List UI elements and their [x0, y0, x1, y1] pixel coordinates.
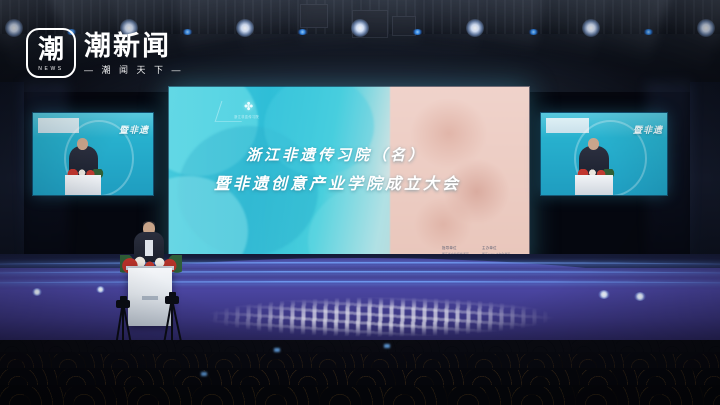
tripod-leg [123, 308, 131, 344]
phone-screen-glow [274, 348, 280, 352]
stage-light-blue [297, 29, 308, 35]
side-led-screen-left: 暨非遗 [32, 112, 154, 196]
stage-light-white [236, 19, 254, 37]
stage-light-white [351, 19, 369, 37]
logo-character: 潮 [38, 37, 64, 63]
stage-light-white [5, 19, 23, 37]
watermark-text-block: 潮新闻 — 潮 闻 天 下 — [84, 31, 184, 76]
speaker-head [588, 138, 599, 149]
side-screen-text: 暨非遗 [119, 123, 149, 136]
video-camera [116, 300, 130, 308]
stage-step-light [0, 271, 720, 274]
podium [65, 175, 101, 195]
floor-spotlight [96, 286, 105, 293]
tripod-leg [171, 304, 173, 342]
stage-light-white [697, 19, 715, 37]
video-camera [165, 296, 179, 304]
floor-spotlight [32, 288, 42, 296]
audience-heads-row [0, 385, 720, 405]
stage-light-white [582, 19, 600, 37]
side-screen-text: 暨非遗 [633, 123, 663, 136]
main-screen-bezel [168, 86, 530, 268]
camera-tripod-right [162, 296, 186, 344]
news-watermark: 潮 NEWS 潮新闻 — 潮 闻 天 下 — [26, 28, 184, 78]
screen-panel [38, 118, 79, 133]
camera-tripod-left [112, 300, 136, 344]
chao-news-logo-icon: 潮 NEWS [26, 28, 76, 78]
phone-screen-glow [201, 372, 207, 376]
screen-panel [546, 118, 589, 133]
stage-light-blue [528, 29, 539, 35]
stage-step-light [0, 281, 720, 284]
phone-screen-glow [384, 344, 390, 348]
tripod-leg [122, 308, 124, 342]
podium [575, 175, 613, 195]
stage-light-blue [643, 29, 654, 35]
tripod-leg [172, 304, 182, 343]
brand-tagline: — 潮 闻 天 下 — [84, 63, 184, 76]
floor-gobo-pattern [170, 296, 590, 338]
floor-spotlight [598, 290, 610, 299]
audience-area [0, 340, 720, 405]
camera-head [169, 292, 176, 297]
speaker-shirt [145, 240, 153, 256]
stage-step-light [0, 262, 720, 265]
floor-spotlight [634, 292, 646, 301]
stage-photograph: ✤ 浙江非遗传习院 浙江非遗传习院（名） 暨非遗创意产业学院成立大会 指导单位 … [0, 0, 720, 405]
camera-head [120, 296, 127, 301]
brand-name: 潮新闻 [84, 31, 184, 61]
logo-news-label: NEWS [38, 66, 63, 72]
stage-light-blue [412, 29, 423, 35]
podium-emblem [142, 296, 158, 300]
side-led-screen-right: 暨非遗 [540, 112, 668, 196]
